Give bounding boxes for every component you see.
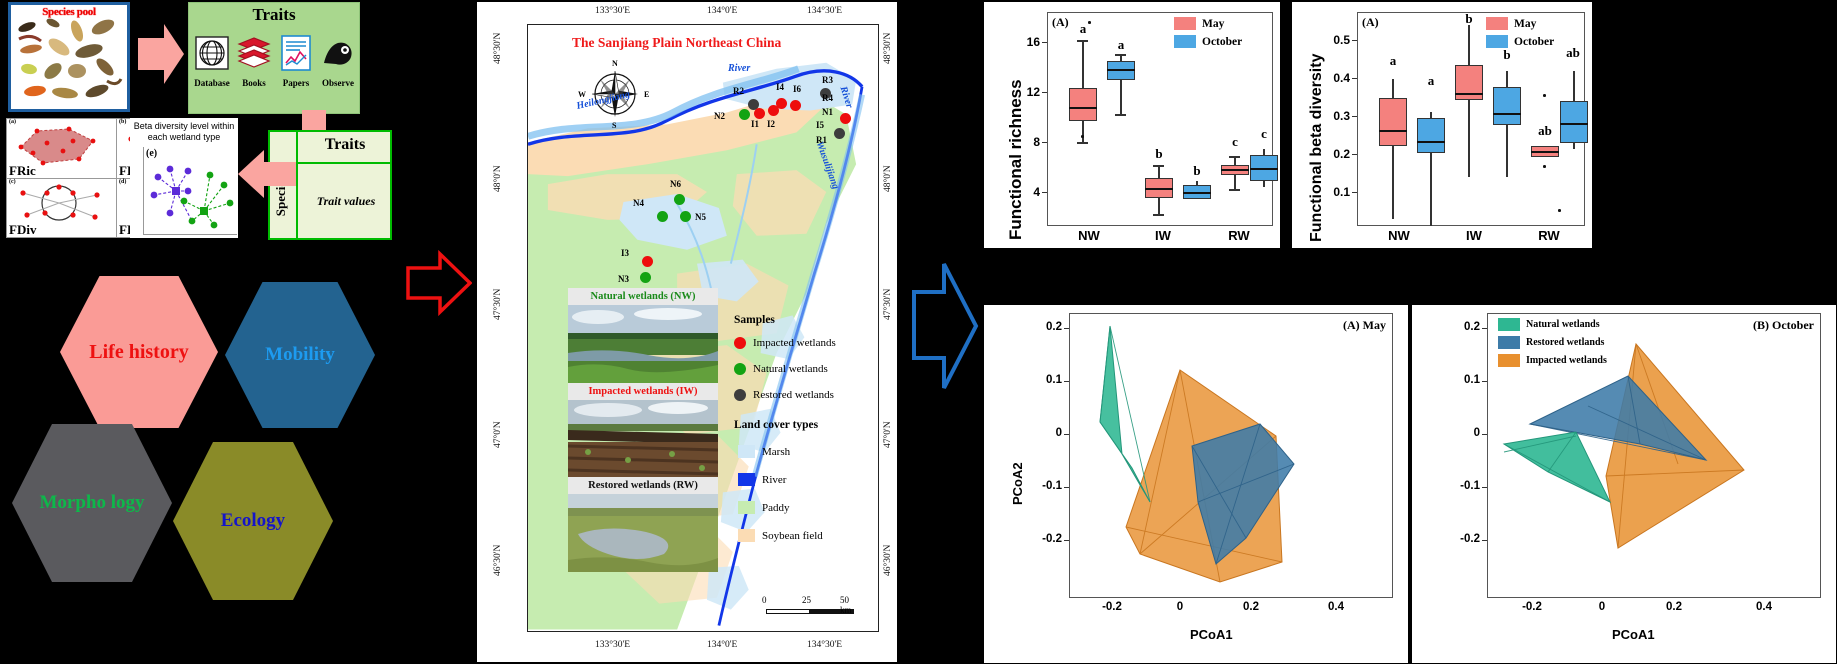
scale-label-zero: 0 — [762, 595, 767, 605]
y-tick-0.2: 0.2 — [1438, 321, 1480, 333]
map-y-tick-3-right: 47°30'N — [883, 289, 893, 320]
panel-tag: (A) — [1052, 15, 1069, 30]
legend-label: Natural wetlands — [753, 363, 828, 375]
scale-label-max: 50 km — [840, 595, 852, 615]
photo-impacted-wetland — [568, 400, 718, 478]
legend-dot-restored-icon — [734, 389, 746, 401]
site-dot-N6 — [674, 194, 685, 205]
legend-dot-natural-icon — [734, 363, 746, 375]
beta-diversity-plot: (e) — [143, 147, 237, 235]
species-pool-box: Species pool — [8, 2, 130, 112]
site-dot-I3 — [642, 256, 653, 267]
trait-source-observe: Observe — [319, 29, 357, 88]
legend-swatch-marsh-icon — [738, 445, 755, 458]
legend-item-may: May — [1486, 17, 1536, 30]
sig-letter: a — [1070, 21, 1096, 37]
site-dot-N5 — [680, 211, 691, 222]
y-tick-0.1: 0.1 — [1318, 185, 1350, 199]
y-tick-0.2: 0.2 — [1318, 147, 1350, 161]
trait-source-label: Database — [193, 78, 231, 88]
site-label-I3: I3 — [621, 248, 629, 258]
hexagon-mobility: Mobility — [225, 282, 375, 428]
site-dot-N3 — [640, 272, 651, 283]
sig-letter: ab — [1556, 45, 1590, 61]
legend-swatch-river-icon — [738, 473, 755, 486]
pcoa-hulls-may — [1070, 314, 1394, 599]
map-y-tick-4-right: 47°0'N — [883, 421, 893, 448]
x-tick-IW: IW — [1136, 228, 1190, 243]
site-label-N3: N3 — [618, 274, 629, 284]
legend-item-marsh: Marsh — [738, 445, 790, 458]
chart-pcoa-may: PCoA2 -0.2 -0.1 0 0.1 0.2 (A) May — [984, 305, 1408, 663]
sig-letter: b — [1456, 11, 1482, 27]
legend-label: Marsh — [762, 446, 790, 458]
scale-label-mid: 25 — [802, 595, 811, 605]
map-title: The Sanjiang Plain Northeast China — [572, 35, 781, 51]
legend-label: October — [1514, 36, 1554, 48]
map-x-tick-2-bottom: 134°0'E — [707, 640, 737, 650]
plot-area: (A) May October a a b — [1357, 12, 1585, 226]
photo-card-impacted-wetlands: Impacted wetlands (IW) — [568, 383, 718, 483]
photo-caption: Natural wetlands (NW) — [568, 288, 718, 305]
y-tick-0.1: 0.1 — [1020, 374, 1062, 386]
sig-letter: c — [1251, 126, 1277, 142]
outlier-point — [1543, 94, 1546, 97]
x-tick-IW: IW — [1447, 228, 1501, 243]
study-area-map-panel: 133°30'E 134°0'E 134°30'E 133°30'E 134°0… — [477, 2, 897, 662]
x-tick-NW: NW — [1372, 228, 1426, 243]
map-y-tick-2-right: 48°0'N — [883, 165, 893, 192]
fd-tag: (a) — [9, 119, 16, 125]
hexagon-ecology: Ecology — [173, 442, 333, 600]
x-axis-label: PCoA1 — [1612, 627, 1655, 642]
map-y-tick-4: 47°0'N — [493, 421, 503, 448]
hexagon-label: Ecology — [221, 511, 285, 531]
x-tick-0.2: 0.2 — [1229, 601, 1273, 613]
y-tick-0.1: 0.1 — [1438, 374, 1480, 386]
map-y-tick-5: 46°30'N — [493, 545, 503, 576]
map-y-tick-1: 48°30'N — [493, 33, 503, 64]
site-label-I6: I6 — [793, 84, 801, 94]
y-tick--0.2: -0.2 — [1438, 533, 1480, 545]
y-tick-4: 4 — [1014, 185, 1040, 199]
photo-caption: Impacted wetlands (IW) — [568, 383, 718, 400]
compass-north-label: N — [612, 59, 618, 68]
fd-cell-fric: (a) FRic — [7, 119, 117, 179]
arrow-left-icon — [238, 150, 296, 198]
plot-area: (B) October Natural wetlands Restored we… — [1487, 313, 1821, 598]
chart-functional-richness: Functional richness 4 8 12 16 (A) May Oc… — [984, 2, 1280, 248]
site-label-R2: R2 — [733, 86, 744, 96]
y-tick-0.5: 0.5 — [1318, 33, 1350, 47]
legend-swatch-may-icon — [1174, 17, 1196, 30]
legend-item-october: October — [1174, 35, 1242, 48]
y-tick-0.2: 0.2 — [1020, 321, 1062, 333]
x-tick-NW: NW — [1062, 228, 1116, 243]
compass-west-label: W — [578, 90, 586, 99]
legend-item-paddy: Paddy — [738, 501, 790, 514]
sig-letter: b — [1146, 146, 1172, 162]
hexagon-life-history: Life history — [60, 276, 218, 428]
map-y-tick-5-right: 46°30'N — [883, 545, 893, 576]
map-x-tick-2: 134°0'E — [707, 6, 737, 16]
compass-east-label: E — [644, 90, 649, 99]
photo-card-restored-wetlands: Restored wetlands (RW) — [568, 477, 718, 577]
panel-tag: (A) — [1362, 15, 1379, 30]
site-dot-N2 — [739, 109, 750, 120]
x-tick-0.0: 0 — [1158, 601, 1202, 613]
outlier-point — [1088, 21, 1091, 24]
hexagon-label: Mobility — [265, 345, 335, 365]
map-x-tick-1-bottom: 133°30'E — [595, 640, 630, 650]
legend-item-impacted: Impacted wetlands — [734, 337, 836, 349]
trait-source-database: Database — [193, 29, 231, 88]
site-label-I1: I1 — [751, 119, 759, 129]
legend-item-soybean: Soybean field — [738, 529, 823, 542]
legend-item-natural: Natural wetlands — [734, 363, 828, 375]
legend-label: Restored wetlands — [753, 389, 834, 401]
y-tick-12: 12 — [1014, 85, 1040, 99]
legend-label: May — [1202, 18, 1224, 30]
legend-label: May — [1514, 18, 1536, 30]
figure-canvas: Species pool Traits — [0, 0, 1837, 664]
matrix-col-header: Traits — [298, 136, 392, 154]
x-tick-0.4: 0.4 — [1314, 601, 1358, 613]
beta-diversity-title: Beta diversity level within each wetland… — [131, 121, 237, 143]
y-tick-16: 16 — [1014, 35, 1040, 49]
arrow-right-red-icon — [406, 250, 472, 316]
site-dot-I4 — [776, 98, 787, 109]
legend-swatch-october-icon — [1174, 35, 1196, 48]
fd-tag: (b) — [119, 119, 126, 125]
map-x-tick-3: 134°30'E — [807, 6, 842, 16]
site-label-N4: N4 — [633, 198, 644, 208]
x-tick-0.4: 0.4 — [1742, 601, 1786, 613]
site-dot-I5 — [840, 113, 851, 124]
legend-item-river: River — [738, 473, 786, 486]
site-label-R1: R1 — [816, 135, 827, 145]
site-label-I4: I4 — [776, 82, 784, 92]
observe-icon — [319, 29, 357, 77]
legend-label: Impacted wetlands — [753, 337, 836, 349]
fd-name: FDiv — [9, 222, 36, 238]
site-label-I5: I5 — [816, 120, 824, 130]
legend-swatch-soybean-icon — [738, 529, 755, 542]
photo-card-natural-wetlands: Natural wetlands (NW) — [568, 288, 718, 388]
legend-land-heading: Land cover types — [734, 419, 818, 431]
site-dot-I1 — [754, 108, 765, 119]
x-tick--0.2: -0.2 — [1090, 601, 1134, 613]
traits-sources-box: Traits Database — [188, 2, 360, 114]
sig-letter: ab — [1532, 123, 1558, 139]
sig-letter: a — [1418, 73, 1444, 89]
compass-south-label: S — [612, 121, 616, 130]
site-label-N6: N6 — [670, 179, 681, 189]
legend-label: River — [762, 474, 786, 486]
plot-area: (A) May — [1069, 313, 1393, 598]
legend-label: October — [1202, 36, 1242, 48]
conceptual-flow-panel: Species pool Traits — [0, 0, 400, 664]
paper-icon — [277, 29, 315, 77]
legend-swatch-may-icon — [1486, 17, 1508, 30]
y-tick-0.3: 0.3 — [1318, 109, 1350, 123]
fd-cell-fdiv: (c) FDiv — [7, 179, 117, 237]
site-dot-I6 — [790, 100, 801, 111]
fd-tag: (d) — [119, 179, 126, 185]
sig-letter: c — [1222, 134, 1248, 150]
map-y-tick-3: 47°30'N — [493, 289, 503, 320]
hexagon-label: Morpho logy — [39, 493, 144, 513]
beta-diversity-panel: Beta diversity level within each wetland… — [130, 118, 238, 238]
traits-icon-row: Database Books — [191, 29, 359, 88]
trait-source-books: Books — [235, 29, 273, 88]
chart-functional-beta-diversity: Functional beta diversity 0.1 0.2 0.3 0.… — [1292, 2, 1592, 248]
x-tick-RW: RW — [1212, 228, 1266, 243]
x-tick-0.0: 0 — [1580, 601, 1624, 613]
sig-letter: a — [1380, 53, 1406, 69]
y-tick-8: 8 — [1014, 135, 1040, 149]
trait-source-label: Books — [235, 78, 273, 88]
legend-item-may: May — [1174, 17, 1224, 30]
site-label-N1: N1 — [822, 107, 833, 117]
trait-source-label: Observe — [319, 78, 357, 88]
x-tick-RW: RW — [1522, 228, 1576, 243]
y-axis-label: Functional richness — [1006, 79, 1026, 240]
fd-tag: (c) — [9, 179, 16, 185]
species-pool-title: Species pool — [11, 6, 127, 18]
y-tick--0.2: -0.2 — [1020, 533, 1062, 545]
books-icon — [235, 29, 273, 77]
globe-icon — [193, 29, 231, 77]
map-y-tick-2: 48°0'N — [493, 165, 503, 192]
trait-source-label: Papers — [277, 78, 315, 88]
photo-restored-wetland — [568, 494, 718, 572]
legend-label: Soybean field — [762, 530, 823, 542]
site-label-R3: R3 — [822, 75, 833, 85]
hexagon-morphology: Morpho logy — [12, 424, 172, 582]
hexagon-label: Life history — [89, 342, 188, 363]
trait-source-papers: Papers — [277, 29, 315, 88]
y-tick-0.4: 0.4 — [1318, 71, 1350, 85]
sig-letter: a — [1108, 37, 1134, 53]
arrow-right-icon — [138, 20, 184, 88]
pcoa-hulls-october — [1488, 314, 1822, 599]
y-tick-0.0: 0 — [1020, 427, 1062, 439]
site-dot-R1 — [834, 128, 845, 139]
map-frame: The Sanjiang Plain Northeast China N S E… — [527, 24, 879, 632]
x-tick--0.2: -0.2 — [1510, 601, 1554, 613]
plot-area: (A) May October a — [1047, 12, 1273, 226]
photo-natural-wetland — [568, 305, 718, 383]
site-label-N2: N2 — [714, 111, 725, 121]
x-tick-0.2: 0.2 — [1652, 601, 1696, 613]
river-label-river: River — [728, 63, 750, 74]
fd-name: FRic — [9, 163, 36, 179]
map-y-tick-1-right: 48°30'N — [883, 33, 893, 64]
photo-caption: Restored wetlands (RW) — [568, 477, 718, 494]
x-axis-label: PCoA1 — [1190, 627, 1233, 642]
site-dot-N4 — [657, 211, 668, 222]
legend-dot-impacted-icon — [734, 337, 746, 349]
traits-title: Traits — [189, 5, 359, 25]
sig-letter: b — [1494, 47, 1520, 63]
y-tick--0.1: -0.1 — [1438, 480, 1480, 492]
site-label-R4: R4 — [822, 93, 833, 103]
arrow-right-blue-icon — [910, 258, 980, 394]
map-x-tick-1: 133°30'E — [595, 6, 630, 16]
legend-samples-heading: Samples — [734, 314, 775, 326]
chart-pcoa-october: -0.2 -0.1 0 0.1 0.2 (B) October Natural … — [1412, 305, 1836, 663]
y-tick--0.1: -0.1 — [1020, 480, 1062, 492]
legend-label: Paddy — [762, 502, 790, 514]
legend-swatch-paddy-icon — [738, 501, 755, 514]
matrix-cell-value: Trait values — [300, 194, 392, 209]
site-label-I2: I2 — [767, 119, 775, 129]
y-tick-0.0: 0 — [1438, 427, 1480, 439]
map-x-tick-3-bottom: 134°30'E — [807, 640, 842, 650]
site-label-N5: N5 — [695, 212, 706, 222]
legend-item-restored: Restored wetlands — [734, 389, 834, 401]
sig-letter: b — [1184, 163, 1210, 179]
